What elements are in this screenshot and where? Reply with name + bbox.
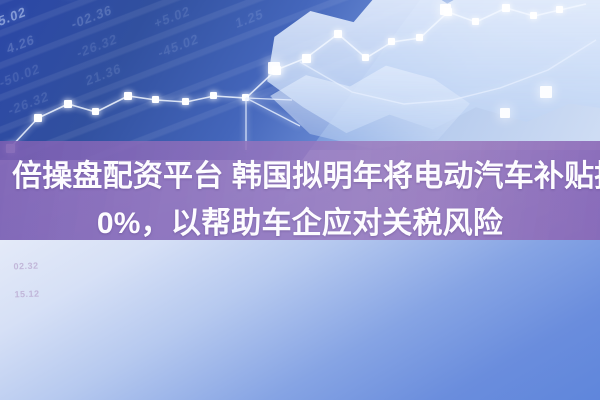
page-title: 倍操盘配资平台 韩国拟明年将电动汽车补贴提高2 0%，以帮助车企应对关税风险 [0,153,600,247]
corner-ticker-numbers: 02.32 15.12 [13,252,40,309]
corner-number: 02.32 [13,252,39,281]
banner-image: -45.0221.36-05.02-02.3545.02 -02.35-11.2… [0,0,600,400]
headline-line-2: 0%，以帮助车企应对关税风险 [0,200,600,247]
corner-number: 15.12 [14,280,40,309]
foreground-gradient [0,240,600,400]
headline-line-1: 倍操盘配资平台 韩国拟明年将电动汽车补贴提高2 [0,153,600,200]
headline-band: 倍操盘配资平台 韩国拟明年将电动汽车补贴提高2 0%，以帮助车企应对关税风险 [0,141,600,259]
foreground-chart-graphics [0,240,600,400]
